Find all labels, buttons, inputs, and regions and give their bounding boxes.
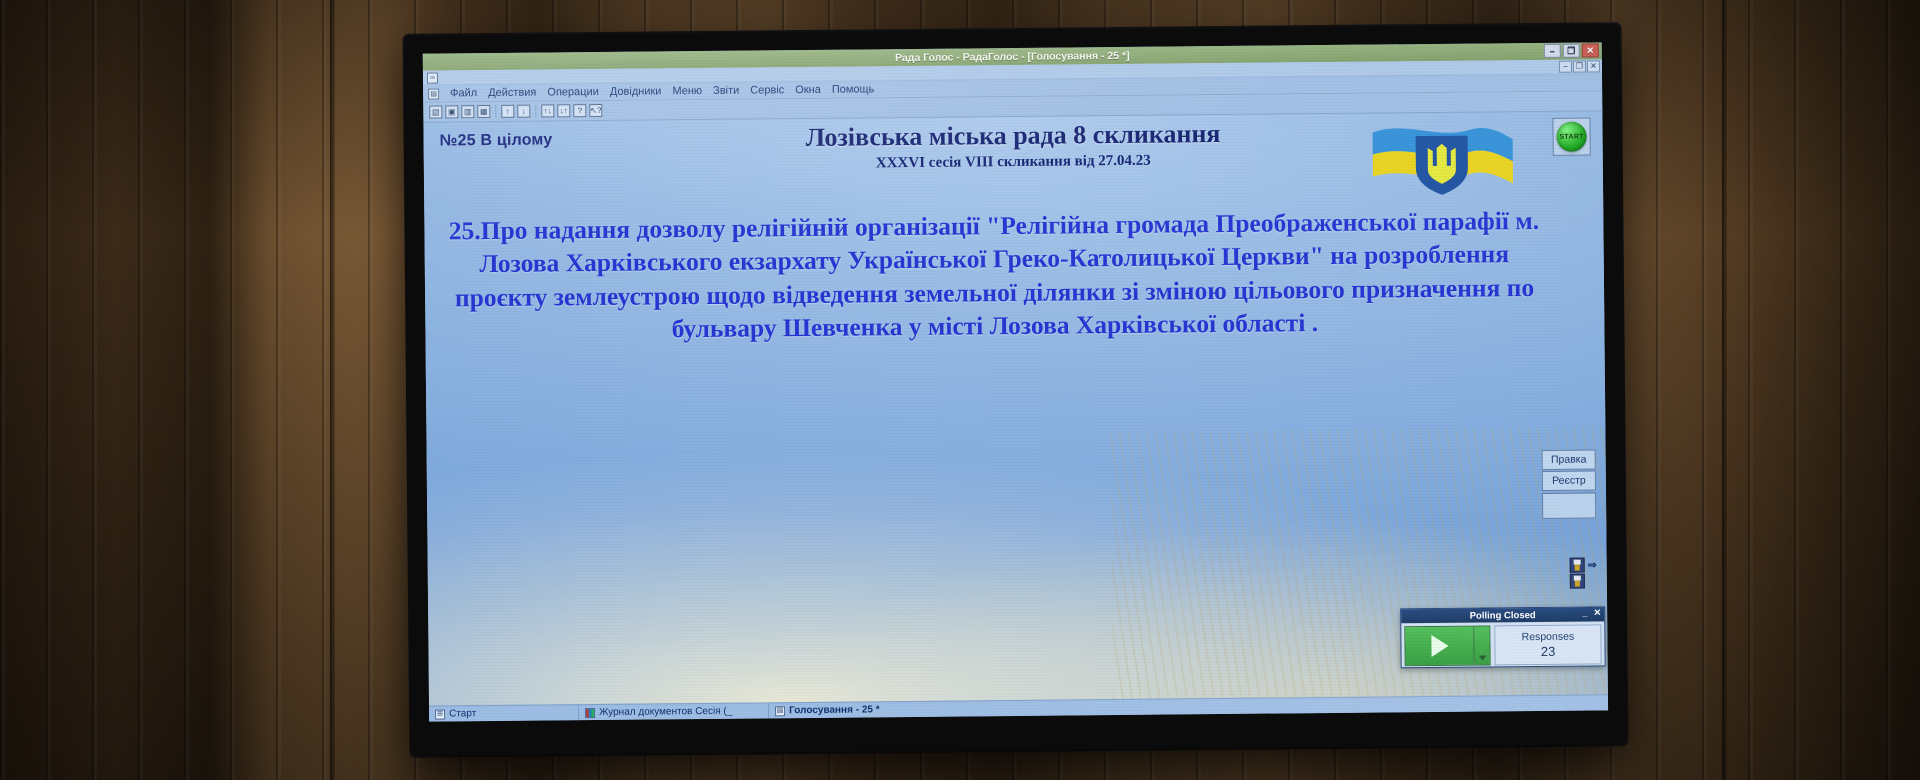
floppy-save-icon[interactable] xyxy=(1569,557,1584,572)
polling-minimize-button[interactable]: _ xyxy=(1583,608,1588,619)
close-button[interactable]: ✕ xyxy=(1582,43,1599,57)
voting-slide: №25 В цілому Лозівська міська рада 8 скл… xyxy=(423,111,1608,705)
taskbar-item-journal-label: Журнал документов Сесія (_ xyxy=(599,706,732,718)
registry-button[interactable]: Реєстр xyxy=(1542,470,1596,491)
window-controls: – ❐ ✕ xyxy=(1544,43,1599,58)
polling-title: Polling Closed xyxy=(1470,610,1536,622)
wall-seam-right xyxy=(1722,0,1727,780)
new-icon[interactable]: ▤ xyxy=(429,105,442,118)
edit-button[interactable]: Правка xyxy=(1542,449,1596,470)
polling-window-controls: _ ✕ xyxy=(1583,607,1602,618)
voting-icon: ▤ xyxy=(775,706,785,716)
menu-item-menu[interactable]: Меню xyxy=(672,85,702,97)
start-button-label: START xyxy=(1559,133,1583,140)
polling-close-button[interactable]: ✕ xyxy=(1594,607,1602,618)
export-arrow-icon[interactable]: ⇒ xyxy=(1587,558,1596,571)
start-label: Старт xyxy=(449,708,476,719)
copy-icon[interactable]: ▥ xyxy=(461,105,474,118)
help-pointer-icon[interactable]: ↖? xyxy=(589,104,602,117)
journal-icon xyxy=(585,708,595,718)
responses-box: Responses 23 xyxy=(1494,624,1601,665)
mdi-restore-button[interactable]: ❐ xyxy=(1573,61,1586,73)
play-button[interactable] xyxy=(1405,627,1473,666)
paste-icon[interactable]: ▦ xyxy=(477,105,490,118)
move-down-icon[interactable]: ↓ xyxy=(517,105,530,118)
document-icon: ▤ xyxy=(428,88,439,99)
polling-body: Responses 23 xyxy=(1401,621,1604,669)
taskbar-item-journal[interactable]: Журнал документов Сесія (_ xyxy=(579,703,769,720)
sort-asc-icon[interactable]: ↑↓ xyxy=(541,104,554,117)
toolbar-separator-2 xyxy=(535,105,536,118)
save-group-2 xyxy=(1570,574,1585,589)
menu-item-actions[interactable]: Действия xyxy=(488,87,536,99)
mdi-window-controls: – ❐ ✕ xyxy=(1559,60,1600,72)
floppy-save-icon-2[interactable] xyxy=(1570,574,1585,589)
application-window: Рада Голос - РадаГолос - [Голосування - … xyxy=(423,42,1608,721)
question-number-label: №25 В цілому xyxy=(440,131,553,150)
menu-item-file[interactable]: Файл xyxy=(450,87,477,99)
start-menu-button[interactable]: ⊞ Старт xyxy=(429,705,579,721)
wall-mounted-display: Рада Голос - РадаГолос - [Голосування - … xyxy=(405,24,1627,756)
menu-item-windows[interactable]: Окна xyxy=(795,84,821,96)
screen: Рада Голос - РадаГолос - [Голосування - … xyxy=(423,42,1608,721)
move-up-icon[interactable]: ↑ xyxy=(501,105,514,118)
start-vote-button[interactable]: START xyxy=(1552,117,1590,155)
mdi-close-button[interactable]: ✕ xyxy=(1587,60,1600,72)
polling-dialog: Polling Closed _ ✕ xyxy=(1400,606,1606,668)
responses-value: 23 xyxy=(1541,644,1556,659)
start-polling-control xyxy=(1404,625,1490,666)
info-icon[interactable]: ? xyxy=(573,104,586,117)
app-icon: ∞ xyxy=(427,72,438,83)
wall-seam-left xyxy=(330,0,335,780)
taskbar-item-voting-label: Голосування - 25 * xyxy=(789,704,880,716)
menu-item-operations[interactable]: Операции xyxy=(547,86,599,98)
menu-item-service[interactable]: Сервіс xyxy=(750,84,784,96)
ukraine-flag-icon xyxy=(1366,117,1517,196)
polling-title-bar: Polling Closed _ ✕ xyxy=(1401,607,1604,623)
blank-button[interactable] xyxy=(1542,492,1596,519)
responses-label: Responses xyxy=(1522,631,1575,644)
start-orb-icon: START xyxy=(1556,122,1586,152)
toolbar-separator-1 xyxy=(495,105,496,118)
sort-desc-icon[interactable]: ↓↑ xyxy=(557,104,570,117)
menu-item-directories[interactable]: Довідники xyxy=(610,85,662,97)
menu-item-help[interactable]: Помощь xyxy=(832,83,875,95)
question-text: 25.Про надання дозволу релігійній органі… xyxy=(446,204,1542,348)
maximize-button[interactable]: ❐ xyxy=(1563,44,1580,58)
start-icon: ⊞ xyxy=(435,709,445,719)
window-title: Рада Голос - РадаГолос - [Голосування - … xyxy=(895,49,1130,63)
chevron-down-icon xyxy=(1478,655,1486,660)
mdi-minimize-button[interactable]: – xyxy=(1559,61,1572,73)
play-dropdown-button[interactable] xyxy=(1473,626,1489,664)
menu-item-reports[interactable]: Звіти xyxy=(713,85,739,97)
play-icon xyxy=(1431,635,1448,657)
minimize-button[interactable]: – xyxy=(1544,44,1561,58)
open-icon[interactable]: ▣ xyxy=(445,105,458,118)
